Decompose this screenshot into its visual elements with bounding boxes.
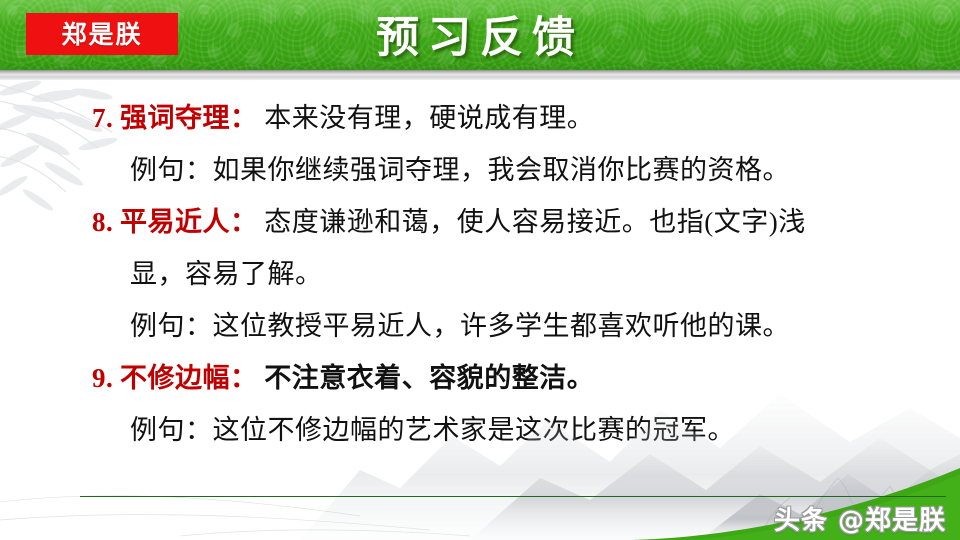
entry-number: 8. [92, 207, 113, 237]
entry-example: 例句：如果你继续强词夺理，我会取消你比赛的资格。 [130, 155, 790, 185]
entry-definition: 本来没有理，硬说成有理。 [264, 103, 594, 133]
entry-line: 7. 强词夺理： 本来没有理，硬说成有理。 [0, 92, 960, 144]
entry-definition: 态度谦逊和蔼，使人容易接近。也指(文字)浅 [264, 207, 805, 237]
content-body: 7. 强词夺理： 本来没有理，硬说成有理。 例句：如果你继续强词夺理，我会取消你… [0, 92, 960, 456]
footer-divider [80, 496, 946, 497]
entry-example: 例句：这位不修边幅的艺术家是这次比赛的冠军。 [130, 415, 735, 445]
entry-line: 8. 平易近人： 态度谦逊和蔼，使人容易接近。也指(文字)浅 [0, 196, 960, 248]
entry-example-line: 例句：这位不修边幅的艺术家是这次比赛的冠军。 [0, 404, 960, 456]
page-title: 预习反馈 [0, 3, 960, 65]
entry-line: 9. 不修边幅： 不注意衣着、容貌的整洁。 [0, 352, 960, 404]
entry-definition-continuation-line: 显，容易了解。 [0, 248, 960, 300]
entry-number: 9. [92, 363, 113, 393]
header-metal-divider [0, 70, 960, 80]
entry-example-line: 例句：这位教授平易近人，许多学生都喜欢听他的课。 [0, 300, 960, 352]
entry-term: 平易近人： [120, 207, 258, 237]
entry-definition: 不注意衣着、容貌的整洁。 [264, 363, 594, 393]
entry-example-line: 例句：如果你继续强词夺理，我会取消你比赛的资格。 [0, 144, 960, 196]
entry-example: 例句：这位教授平易近人，许多学生都喜欢听他的课。 [130, 311, 790, 341]
watermark-label: 头条 @郑是朕 [774, 500, 946, 537]
slide-canvas: 郑是朕 预习反馈 7. 强词夺理： 本来没 [0, 0, 960, 540]
entry-term: 强词夺理： [120, 103, 258, 133]
entry-number: 7. [92, 103, 113, 133]
entry-term: 不修边幅： [120, 363, 258, 393]
entry-definition-continuation: 显，容易了解。 [130, 259, 323, 289]
